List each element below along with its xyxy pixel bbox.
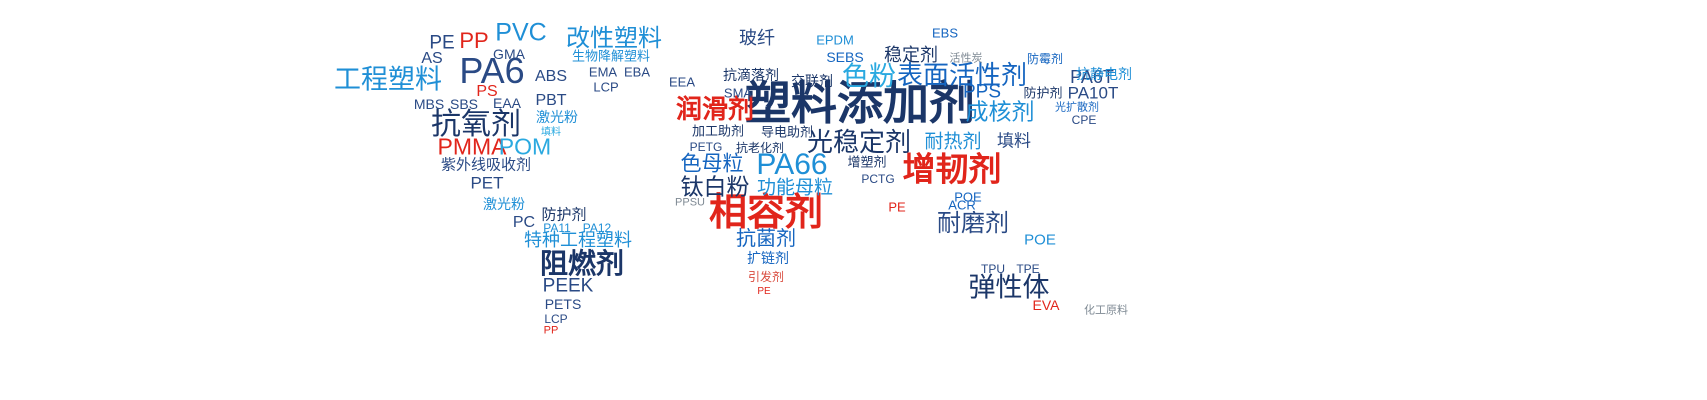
word-cloud-term[interactable]: EVA xyxy=(1033,298,1060,312)
word-cloud-term[interactable]: 抗滴落剂 xyxy=(723,69,779,83)
word-cloud-term[interactable]: POE xyxy=(1024,233,1056,248)
word-cloud-term[interactable]: 增塑剂 xyxy=(847,157,886,170)
word-cloud-term[interactable]: TPE xyxy=(1016,263,1039,275)
word-cloud-term[interactable]: 耐磨剂 xyxy=(937,211,1009,235)
word-cloud-term[interactable]: 改性塑料 xyxy=(566,26,662,50)
word-cloud-term[interactable]: PA11 xyxy=(543,222,571,234)
word-cloud-term[interactable]: PC xyxy=(513,215,535,231)
word-cloud-term[interactable]: PPS xyxy=(963,83,1001,102)
word-cloud-term[interactable]: 防护剂 xyxy=(1023,88,1062,101)
word-cloud-term[interactable]: 抗静电剂 xyxy=(1076,68,1132,82)
word-cloud-term[interactable]: EBA xyxy=(624,66,650,79)
word-cloud-term[interactable]: PE xyxy=(757,287,770,297)
word-cloud-term[interactable]: SEBS xyxy=(826,50,863,64)
word-cloud-term[interactable]: TPU xyxy=(981,263,1005,275)
word-cloud-term[interactable]: 引发剂 xyxy=(748,271,784,283)
word-cloud-term[interactable]: EAA xyxy=(493,96,521,110)
word-cloud-term[interactable]: 激光粉 xyxy=(483,198,525,212)
word-cloud-term[interactable]: EEA xyxy=(669,76,695,89)
word-cloud-term[interactable]: EBS xyxy=(932,27,958,40)
word-cloud-term[interactable]: 抗菌剂 xyxy=(736,228,796,248)
word-cloud-term[interactable]: 色母粒 xyxy=(681,154,744,175)
word-cloud-term[interactable]: LCP xyxy=(544,313,567,325)
word-cloud-term[interactable]: 玻纤 xyxy=(739,30,775,48)
word-cloud-term[interactable]: 导电助剂 xyxy=(761,127,813,140)
word-cloud-term[interactable]: 化工原料 xyxy=(1084,305,1128,316)
word-cloud-term[interactable]: 色粉 xyxy=(842,64,896,91)
word-cloud-term[interactable]: 加工助剂 xyxy=(692,126,744,139)
word-cloud-term[interactable]: 光扩散剂 xyxy=(1055,102,1099,113)
word-cloud-term[interactable]: 防霉剂 xyxy=(1027,53,1063,65)
word-cloud-term[interactable]: 紫外线吸收剂 xyxy=(441,158,531,173)
word-cloud-term[interactable]: PE xyxy=(888,201,905,214)
word-cloud-term[interactable]: PA12 xyxy=(583,222,611,234)
word-cloud-term[interactable]: 交联剂 xyxy=(791,75,833,89)
word-cloud-term[interactable]: 阻燃剂 xyxy=(540,250,624,278)
word-cloud-term[interactable]: PPSU xyxy=(675,198,705,209)
word-cloud-term[interactable]: PETS xyxy=(545,297,582,311)
word-cloud-term[interactable]: SMA xyxy=(724,87,752,100)
word-cloud-term[interactable]: PEEK xyxy=(543,277,594,296)
word-cloud-term[interactable]: ABS xyxy=(535,69,567,85)
word-cloud-term[interactable]: 稳定剂 xyxy=(884,47,938,65)
word-cloud-term[interactable]: 增韧剂 xyxy=(903,153,1002,186)
word-cloud-term[interactable]: PET xyxy=(470,175,503,192)
word-cloud-term[interactable]: 特种工程塑料 xyxy=(524,232,632,250)
word-cloud-term[interactable]: 抗老化剂 xyxy=(736,142,784,154)
word-cloud-canvas: 塑料添加剂相容剂增韧剂表面活性剂光稳定剂工程塑料抗氧剂阻燃剂PA6PA66润滑剂… xyxy=(0,0,1707,400)
word-cloud-term[interactable]: EPDM xyxy=(816,34,854,47)
word-cloud-term[interactable]: 成核剂 xyxy=(966,102,1035,125)
word-cloud-term[interactable]: CPE xyxy=(1072,114,1097,126)
word-cloud-term[interactable]: PP xyxy=(544,326,559,337)
word-cloud-term[interactable]: 填料 xyxy=(541,128,561,138)
word-cloud-term[interactable]: 扩链剂 xyxy=(747,252,789,266)
word-cloud-term[interactable]: GMA xyxy=(493,47,525,61)
word-cloud-term[interactable]: 润滑剂 xyxy=(676,97,754,123)
word-cloud-term[interactable]: 生物降解塑料 xyxy=(572,51,650,64)
word-cloud-term[interactable]: 工程塑料 xyxy=(334,67,442,94)
word-cloud-term[interactable]: 功能母粒 xyxy=(757,179,833,198)
word-cloud-term[interactable]: PP xyxy=(459,30,488,52)
word-cloud-term[interactable]: PVC xyxy=(495,21,546,46)
word-cloud-term[interactable]: 耐热剂 xyxy=(924,133,981,152)
word-cloud-term[interactable]: 活性炭 xyxy=(950,53,983,64)
word-cloud-term[interactable]: 填料 xyxy=(997,134,1031,151)
word-cloud-term[interactable]: ACR xyxy=(948,199,975,212)
word-cloud-term[interactable]: PETG xyxy=(690,141,723,153)
word-cloud-term[interactable]: 激光粉 xyxy=(536,111,578,125)
word-cloud-term[interactable]: EMA xyxy=(589,66,617,79)
word-cloud-term[interactable]: PBT xyxy=(535,93,566,109)
word-cloud-term[interactable]: PCTG xyxy=(861,173,894,185)
word-cloud-term[interactable]: PA10T xyxy=(1068,85,1119,102)
word-cloud-term[interactable]: LCP xyxy=(593,81,618,94)
word-cloud-term[interactable]: SBS xyxy=(450,97,478,111)
word-cloud-term[interactable]: AS xyxy=(421,51,442,67)
word-cloud-term[interactable]: MBS xyxy=(414,97,444,111)
